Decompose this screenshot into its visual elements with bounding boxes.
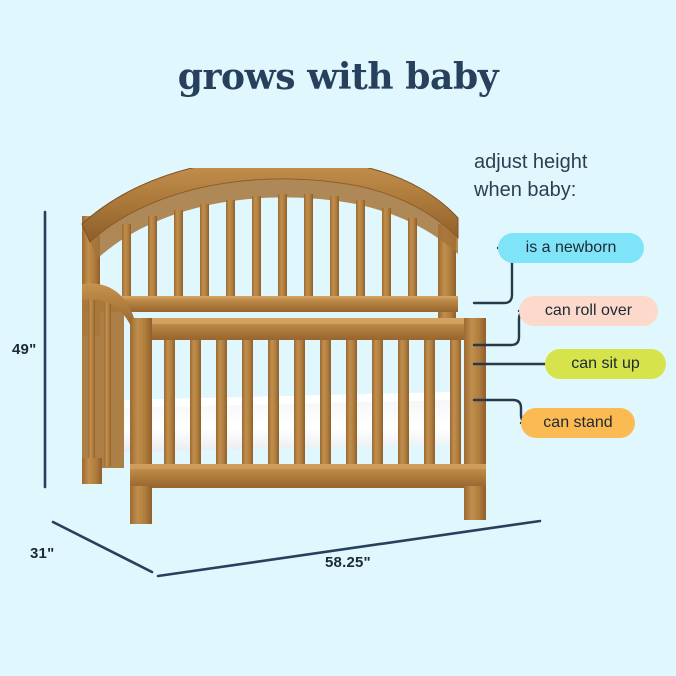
depth-dimension-line	[53, 522, 152, 572]
pill-can-roll-over: can roll over	[519, 296, 658, 326]
adjust-heading-line-2: when baby:	[474, 176, 674, 204]
width-dimension-label: 58.25"	[325, 554, 371, 571]
adjust-height-heading: adjust height when baby:	[474, 148, 674, 204]
infographic-canvas: grows with baby	[0, 0, 676, 676]
pill-can-stand: can stand	[521, 408, 635, 438]
pill-can-sit-up: can sit up	[545, 349, 666, 379]
height-dimension-label: 49"	[12, 341, 36, 358]
pill-label: can roll over	[545, 302, 632, 320]
adjust-heading-line-1: adjust height	[474, 148, 674, 176]
pill-is-a-newborn: is a newborn	[498, 233, 644, 263]
page-title: grows with baby	[0, 56, 676, 98]
pill-label: can sit up	[571, 355, 639, 373]
pill-label: can stand	[543, 414, 612, 432]
crib-illustration	[60, 168, 510, 528]
pill-label: is a newborn	[526, 239, 617, 257]
depth-dimension-label: 31"	[30, 545, 54, 562]
